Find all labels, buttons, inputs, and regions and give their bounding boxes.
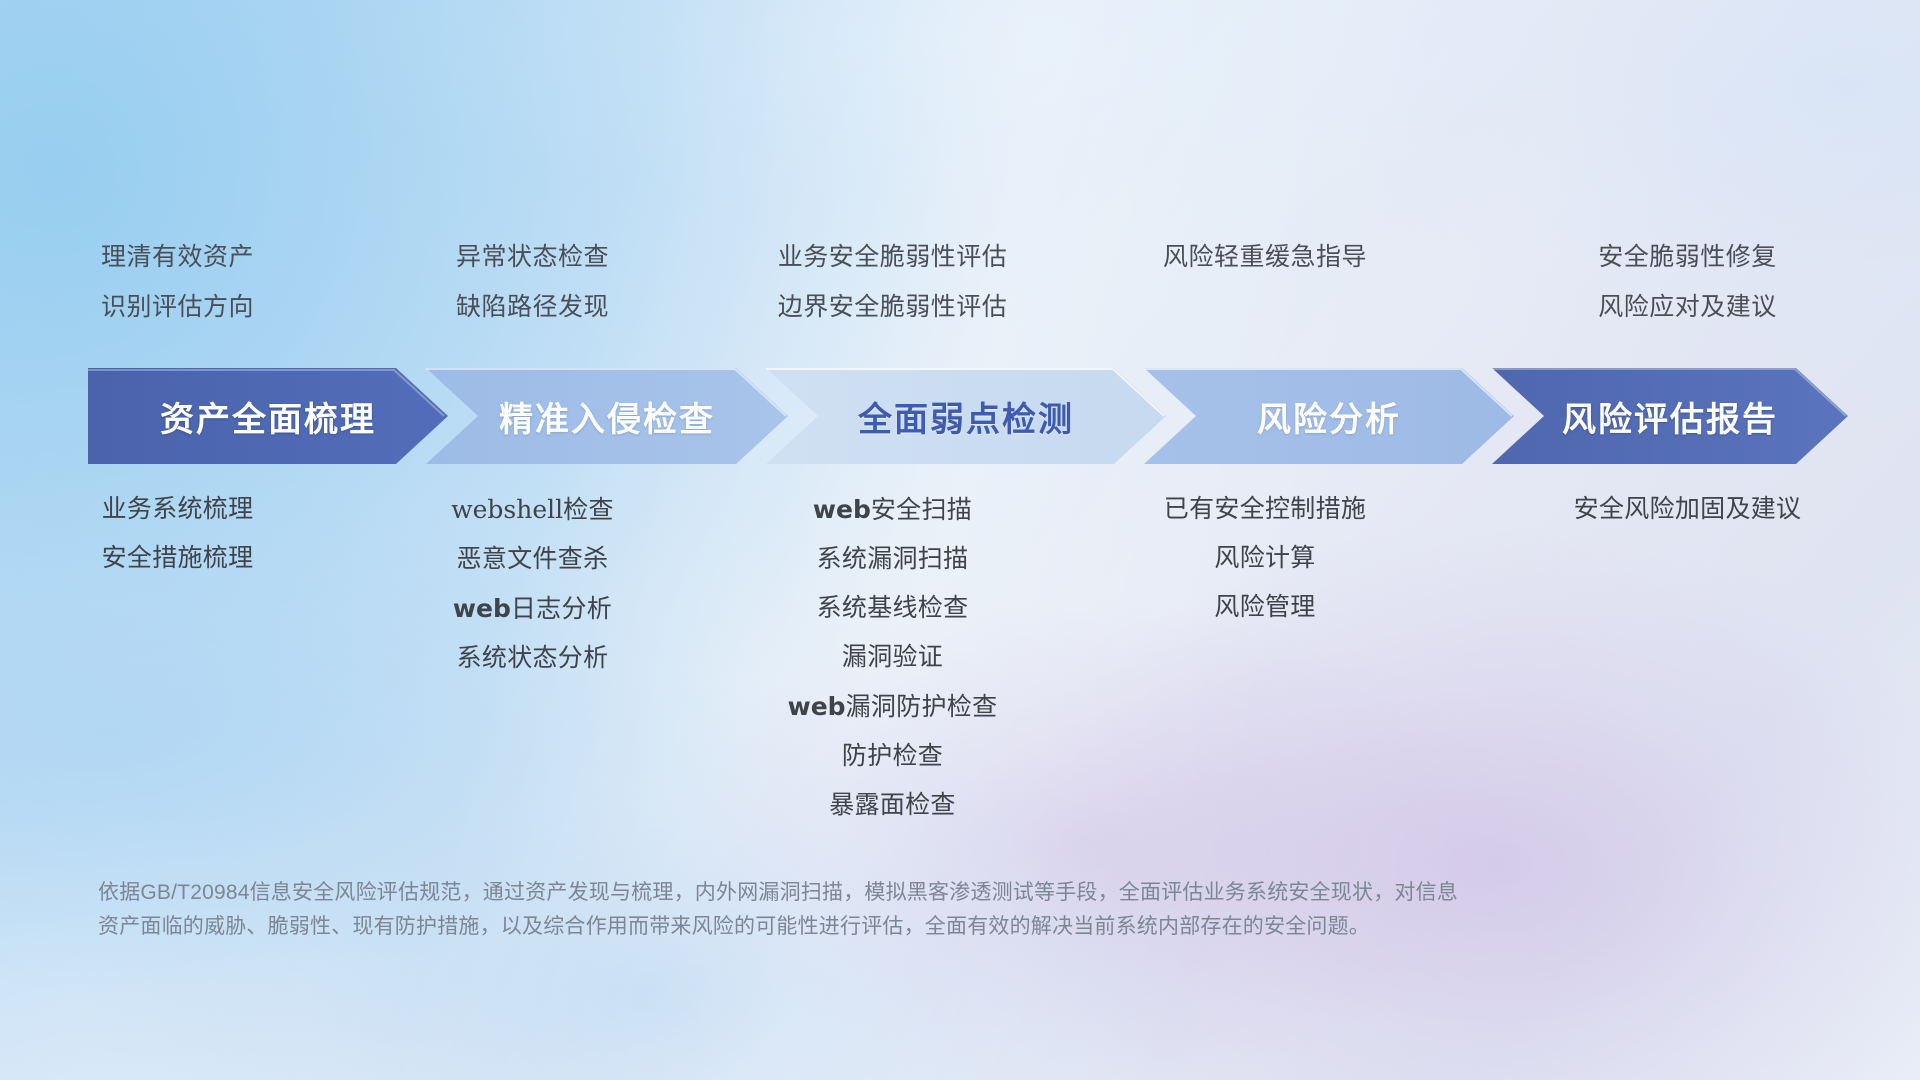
bottom-group-risk-analysis: 已有安全控制措施风险计算风险管理 [1075,485,1455,632]
top-item: 识别评估方向 [0,282,355,332]
bottom-item: 安全措施梳理 [0,534,355,583]
process-chevron-banner: 资产全面梳理 精准入侵检查 [88,368,1848,464]
bottom-item: web日志分析 [355,584,710,634]
chevron-stage-intrusion-check[interactable]: 精准入侵检查 [426,368,788,464]
footer-description: 依据GB/T20984信息安全风险评估规范，通过资产发现与梳理，内外网漏洞扫描，… [98,876,1738,944]
top-item: 风险应对及建议 [1455,282,1920,332]
bottom-item-latin: web [788,692,846,721]
chevron-label: 资产全面梳理 [160,392,376,441]
bottom-item-latin: web [453,594,511,623]
bottom-item: 已有安全控制措施 [1075,485,1455,534]
top-group-risk-analysis: 风险轻重缓急指导 [1075,232,1455,332]
chevron-stage-asset-inventory[interactable]: 资产全面梳理 [88,368,448,464]
top-item: 安全脆弱性修复 [1455,232,1920,282]
bottom-item: 风险计算 [1075,534,1455,583]
bottom-list-row: 业务系统梳理安全措施梳理 webshell检查恶意文件查杀web日志分析系统状态… [0,485,1920,830]
bottom-item-latin: webshell [451,495,563,524]
top-label-row: 理清有效资产 识别评估方向 异常状态检查 缺陷路径发现 业务安全脆弱性评估 边界… [0,232,1920,332]
top-item: 理清有效资产 [0,232,355,282]
chevron-stage-risk-report[interactable]: 风险评估报告 [1492,368,1848,464]
bottom-group-asset-inventory: 业务系统梳理安全措施梳理 [0,485,355,583]
chevron-label: 风险分析 [1257,392,1401,441]
bottom-item: 系统漏洞扫描 [710,535,1075,584]
bottom-group-weakness-detection: web安全扫描系统漏洞扫描系统基线检查漏洞验证web漏洞防护检查防护检查暴露面检… [710,485,1075,830]
bottom-item: web安全扫描 [710,485,1075,535]
bottom-item: 安全风险加固及建议 [1455,485,1920,534]
bottom-item: 恶意文件查杀 [355,535,710,584]
bottom-item: web漏洞防护检查 [710,682,1075,732]
bottom-item: 暴露面检查 [710,781,1075,830]
bottom-item: 漏洞验证 [710,633,1075,682]
bottom-item: 防护检查 [710,732,1075,781]
bottom-item-latin: web [813,495,871,524]
top-item: 业务安全脆弱性评估 [710,232,1075,282]
bottom-item: webshell检查 [355,485,710,535]
chevron-label: 风险评估报告 [1562,392,1778,441]
top-item: 异常状态检查 [355,232,710,282]
bottom-item: 系统基线检查 [710,584,1075,633]
footer-line-1: 依据GB/T20984信息安全风险评估规范，通过资产发现与梳理，内外网漏洞扫描，… [98,876,1738,910]
top-group-intrusion-check: 异常状态检查 缺陷路径发现 [355,232,710,332]
bottom-item: 系统状态分析 [355,634,710,683]
chevron-label: 精准入侵检查 [499,392,715,441]
bottom-group-intrusion-check: webshell检查恶意文件查杀web日志分析系统状态分析 [355,485,710,683]
top-item: 缺陷路径发现 [355,282,710,332]
top-group-risk-report: 安全脆弱性修复 风险应对及建议 [1455,232,1920,332]
top-group-asset-inventory: 理清有效资产 识别评估方向 [0,232,355,332]
bottom-item: 风险管理 [1075,583,1455,632]
chevron-stage-weakness-detection[interactable]: 全面弱点检测 [766,368,1166,464]
chevron-label: 全面弱点检测 [858,392,1074,441]
top-item: 风险轻重缓急指导 [1075,232,1455,282]
top-item: 边界安全脆弱性评估 [710,282,1075,332]
slide-canvas: 理清有效资产 识别评估方向 异常状态检查 缺陷路径发现 业务安全脆弱性评估 边界… [0,0,1920,1080]
footer-line-2: 资产面临的威胁、脆弱性、现有防护措施，以及综合作用而带来风险的可能性进行评估，全… [98,910,1738,944]
bottom-group-risk-report: 安全风险加固及建议 [1455,485,1920,534]
chevron-stage-risk-analysis[interactable]: 风险分析 [1144,368,1514,464]
top-group-weakness-detection: 业务安全脆弱性评估 边界安全脆弱性评估 [710,232,1075,332]
bottom-item: 业务系统梳理 [0,485,355,534]
